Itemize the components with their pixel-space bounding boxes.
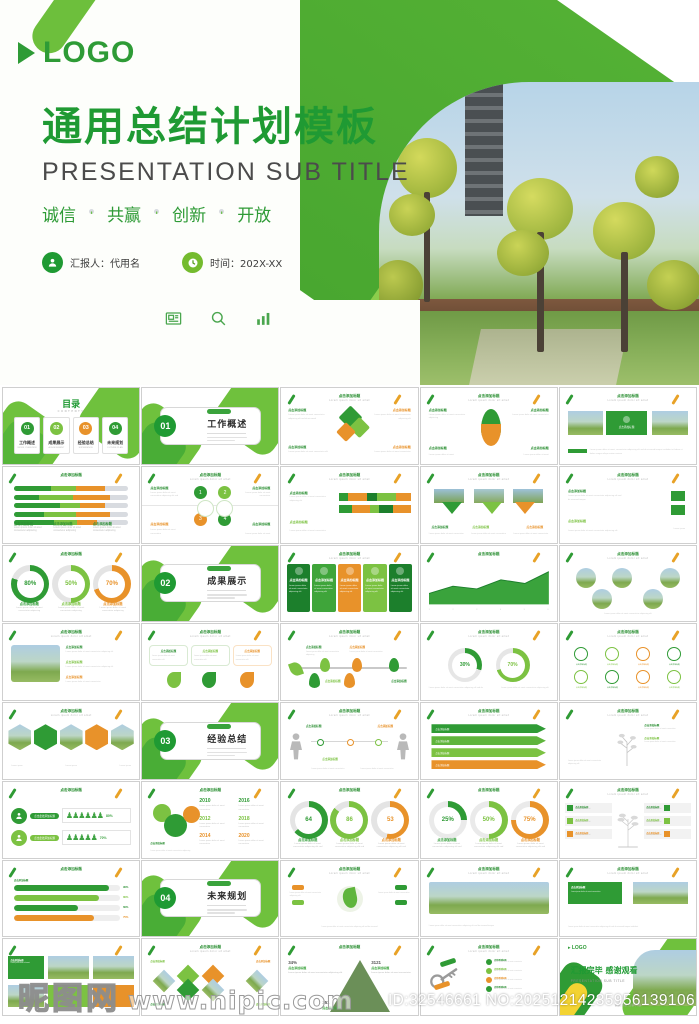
thumb-title: 点击添加标题Lorem ipsum dolor sit amet <box>281 552 417 560</box>
thumb-title-cn: 点击添加标题 <box>60 709 82 713</box>
thumb-title-cn: 点击添加标题 <box>200 473 222 477</box>
thumb-title: 点击添加标题Lorem ipsum dolor sit amet <box>560 867 696 875</box>
thumb-title-en: Lorem ipsum dolor sit amet <box>421 635 557 638</box>
thumb-title-cn: 点击添加标题 <box>60 630 82 634</box>
thumb-title-cn: 点击添加标题 <box>339 552 361 556</box>
thumbnail-people-bar-chart[interactable]: 点击添加标题 点击此处添加标题 ♟♟♟♟♟♟ 80% 点击此处添加标题 ♟♟♟♟… <box>2 781 140 859</box>
slide-thumbnail-grid: 目录 CONTENTS 01 工作概述 WORK OVERVIEW 02 成果展… <box>0 385 699 1016</box>
thumbnail-wide-photo[interactable]: 点击添加标题Lorem ipsum dolor sit amet Lorem i… <box>420 860 558 938</box>
text-heading: 点击添加标题 <box>235 486 270 490</box>
thumb-title: 点击添加标题 <box>3 788 139 793</box>
thumbnail-area-chart[interactable]: 点击添加标题 123456 <box>420 545 558 623</box>
people-value: 70% <box>100 836 107 840</box>
thumbnail-tree-lists[interactable]: 点击添加标题Lorem ipsum dolor sit amet 点击添加标题L… <box>559 781 697 859</box>
thumbnail-arrow-list[interactable]: 点击添加标题Lorem ipsum dolor sit amet 点击添加标题 … <box>420 702 558 780</box>
thumbnail-tree-diagram[interactable]: 点击添加标题Lorem ipsum dolor sit amet 点击添加标题 … <box>559 702 697 780</box>
color-block <box>671 491 685 501</box>
donut-caption: 点击添加标题Lorem ipsum dolor sit amet consect… <box>331 837 369 850</box>
text-block: 点击添加标题 Lorem ipsum dolor sit amet consec… <box>288 408 329 421</box>
date-meta: 时间：202X-XX <box>182 252 282 273</box>
pin-icon <box>352 658 362 672</box>
text-heading: 点击添加标题 <box>370 445 411 449</box>
people-pill: 点击此处添加标题 <box>30 835 59 841</box>
progress-row: 90% <box>14 885 128 891</box>
thumb-title: 点击添加标题Lorem ipsum dolor sit amet <box>142 945 278 953</box>
node-marker <box>347 739 354 746</box>
donut-caption: 点击添加标题Lorem ipsum dolor sit amet consect… <box>512 837 550 850</box>
meta-row: 汇报人：代用名 时间：202X-XX <box>42 252 410 273</box>
thumbnail-progress-bars[interactable]: 点击添加标题 90% 80% 60% 75% 点击添加标题 <box>2 860 140 938</box>
hexagon-row <box>8 724 133 750</box>
thumb-title-cn: 点击添加标题 <box>617 630 639 634</box>
thumbnail-section-02[interactable]: 02 成果展示 <box>141 545 279 623</box>
section-lines <box>207 909 247 915</box>
donut-row: 64 86 53 <box>288 801 411 839</box>
thumb-title: 点击添加标题Lorem ipsum dolor sit amet <box>421 394 557 402</box>
tree-icon <box>614 804 642 848</box>
checklist-item[interactable]: 点击添加标题Lorem ipsum dolor sit amet consect… <box>486 968 550 974</box>
thumb-title-en: Lorem ipsum dolor sit amet <box>560 714 696 717</box>
slogan-item: 创新 <box>172 201 206 226</box>
text-heading: 点击添加标题 <box>370 408 411 412</box>
donut-value: 75% <box>516 807 543 834</box>
reporter-meta: 汇报人：代用名 <box>42 252 140 273</box>
year-item: 2020Lorem ipsum dolor sit amet consectet… <box>238 833 271 847</box>
donut-value: 50% <box>58 571 85 598</box>
people-figures: ♟♟♟♟♟ <box>66 833 97 842</box>
thumb-title-en: Lorem ipsum dolor sit amet <box>281 399 417 402</box>
text-block: 点击添加标题 Lorem ipsum dolor sit amet consec… <box>370 445 411 455</box>
bar-row <box>14 495 128 500</box>
text-block: 点击添加标题 Lorem ipsum dolor sit amet consec… <box>66 645 131 684</box>
thumb-title-en: Lorem ipsum dolor sit amet <box>421 950 557 953</box>
thumb-photo <box>568 411 603 435</box>
pyramid-label: 点击添加标题 <box>288 966 342 970</box>
text-heading: 点击添加标题 <box>429 446 447 450</box>
tag-badge <box>292 885 304 890</box>
thumbnail-donut-chart-b[interactable]: 点击添加标题 64 86 53 点击添加标题Lorem ipsum dolor … <box>280 781 418 859</box>
slogan-separator: | <box>89 209 94 214</box>
thumbnail-numbered-list[interactable]: 点击添加标题Lorem ipsum dolor sit amet 1 2 3 4… <box>141 466 279 544</box>
icon-cell[interactable]: 点击添加标题 <box>630 670 657 689</box>
thumb-title: 点击添加标题Lorem ipsum dolor sit amet <box>142 630 278 638</box>
progress-row: 75% <box>14 915 128 921</box>
photo-trunk <box>621 252 628 352</box>
thumbnail-green-panels[interactable]: 点击添加标题Lorem ipsum dolor sit amet 点击添加标题 … <box>559 860 697 938</box>
clock-icon <box>182 252 203 273</box>
tag-badge <box>292 900 304 905</box>
icon-cell[interactable]: 点击添加标题 <box>568 647 595 666</box>
thumbnail-photo-paragraph[interactable]: 点击添加标题Lorem ipsum dolor sit amet 点击添加标题 … <box>2 623 140 701</box>
thumb-title: 点击添加标题Lorem ipsum dolor sit amet <box>560 394 696 402</box>
thumb-photo <box>612 568 632 588</box>
text-heading: 点击添加标题 <box>531 408 549 412</box>
thumb-title: 点击添加标题Lorem ipsum dolor sit amet <box>560 788 696 796</box>
donut-captions: 点击添加标题Lorem ipsum dolor sit amet consect… <box>8 601 133 614</box>
thumbnail-text-blocks[interactable]: 点击添加标题Lorem ipsum dolor sit amet 点击添加标题 … <box>559 466 697 544</box>
thumb-title-en: Lorem ipsum dolor sit amet <box>281 557 417 560</box>
column-card[interactable]: 点击添加标题Lorem ipsum dolor sit amet consect… <box>338 564 361 613</box>
thumb-title: 点击添加标题Lorem ipsum dolor sit amet <box>281 709 417 717</box>
thumb-title-cn: 点击添加标题 <box>478 945 500 949</box>
checklist: 点击添加标题Lorem ipsum dolor sit amet consect… <box>486 959 550 992</box>
progress-value: 80% <box>123 896 128 899</box>
thumb-title: 点击添加标题Lorem ipsum dolor sit amet <box>421 867 557 875</box>
people-row: 点击此处添加标题 ♟♟♟♟♟ 70% <box>11 830 131 846</box>
text-heading: 点击添加标题 <box>150 959 164 963</box>
people-row: 点击此处添加标题 ♟♟♟♟♟♟ 80% <box>11 808 131 824</box>
funnel-icon <box>515 502 535 514</box>
accent-bar <box>568 449 587 453</box>
thumbnail-thank-you[interactable]: ▸ LOGO 汇报完毕 感谢观看 PRESENTATION SUB TITLE … <box>559 938 697 1016</box>
list-item[interactable]: 点击添加标题Lorem ipsum dolor sit <box>565 816 611 826</box>
photo-tree <box>635 156 679 198</box>
thumb-photo <box>93 956 134 979</box>
icon-cell[interactable]: 点击添加标题 <box>599 670 626 689</box>
green-panel: 点击添加标题 Lorem ipsum dolor sit amet <box>8 956 43 979</box>
list-item[interactable]: 点击添加标题Lorem ipsum dolor sit <box>644 816 690 826</box>
thumb-title: 点击添加标题 <box>3 473 139 478</box>
number-badge: 2 <box>218 486 231 499</box>
list-item[interactable]: 点击添加标题Lorem ipsum dolor sit <box>644 803 690 813</box>
pyramid-value: 3121 <box>371 960 381 965</box>
legend-item: 点击添加标题Lorem ipsum dolor sit amet consect… <box>14 521 49 534</box>
green-panel: 点击添加标题 Lorem ipsum dolor sit amet consec… <box>568 882 622 905</box>
pyramid-stat-left: 34% 点击添加标题 Lorem ipsum dolor sit amet co… <box>288 960 342 975</box>
list-item[interactable]: 点击添加标题Lorem ipsum dolor sit <box>565 829 611 839</box>
check-icon <box>396 567 404 575</box>
text-heading: 点击添加标题 <box>322 757 338 761</box>
text-block: 点击添加标题 Lorem ipsum dolor sit amet consec… <box>644 723 688 744</box>
column-card[interactable]: 点击添加标题Lorem ipsum dolor sit amet consect… <box>312 564 335 613</box>
thumb-title-en: Lorem ipsum dolor sit amet <box>421 714 557 717</box>
person-silhouette-icon <box>288 732 304 760</box>
year-item: 2010Lorem ipsum dolor sit amet consectet… <box>199 798 232 812</box>
thumbnail-stacked-bar-chart[interactable]: 点击添加标题 点击添加标题Lorem ipsum dolor sit amet … <box>2 466 140 544</box>
deco-slash-orange-icon <box>114 945 122 956</box>
text-heading: 点击添加标题 <box>14 878 28 882</box>
progress-rows: 90% 80% 60% 75% <box>14 885 128 921</box>
section-number: 02 <box>154 572 176 594</box>
hexagon-orange <box>85 724 108 750</box>
donut-caption: 点击添加标题Lorem ipsum dolor sit amet consect… <box>428 837 466 850</box>
column-card[interactable]: 点击添加标题Lorem ipsum dolor sit amet consect… <box>287 564 310 613</box>
section-rule <box>207 590 246 591</box>
logo[interactable]: LOGO <box>18 36 135 70</box>
text-heading: 点击添加标题 <box>349 645 365 649</box>
thumbnail-people-timeline[interactable]: 点击添加标题Lorem ipsum dolor sit amet 点击添加标题 … <box>280 702 418 780</box>
people-figures: ♟♟♟♟♟♟ <box>66 811 103 820</box>
icon-cell[interactable]: 点击添加标题 <box>599 647 626 666</box>
text-heading: 点击添加标题 <box>66 675 131 679</box>
thumbnail-five-columns[interactable]: 点击添加标题Lorem ipsum dolor sit amet 点击添加标题L… <box>280 545 418 623</box>
checklist-item[interactable]: 点击添加标题Lorem ipsum dolor sit amet consect… <box>486 986 550 992</box>
thumb-title-cn: 点击添加标题 <box>478 630 500 634</box>
donut-value: 50% <box>475 807 502 834</box>
node-marker <box>317 739 324 746</box>
year-item: 2016Lorem ipsum dolor sit amet consectet… <box>238 798 271 812</box>
section-lines <box>207 752 247 758</box>
donut-chart: 30% <box>448 648 482 682</box>
thumbnail-section-03[interactable]: 03 经验总结 <box>141 702 279 780</box>
pin-icon <box>481 424 501 446</box>
icon-cell[interactable]: 点击添加标题 <box>568 670 595 689</box>
text-heading: 点击添加标题 <box>472 525 489 529</box>
thumbnail-donut-chart-c[interactable]: 点击添加标题 25% 50% 75% 点击添加标题Lorem ipsum dol… <box>420 781 558 859</box>
contents-card[interactable]: 02 成果展示 ACHIEVEMENT <box>43 417 69 454</box>
arrow-row[interactable]: 点击添加标题 <box>431 736 545 745</box>
finale-slogan: 诚信 共赢 创新 开放 <box>560 1003 696 1007</box>
photo-pagoda <box>465 84 503 216</box>
text-heading: 点击添加标题 <box>431 525 448 529</box>
contents-card[interactable]: 01 工作概述 WORK OVERVIEW <box>14 417 40 454</box>
thumbnail-hexagon-layout[interactable]: 点击添加标题Lorem ipsum dolor sit amet Lorem i… <box>2 702 140 780</box>
thumbnail-icon-grid[interactable]: 点击添加标题Lorem ipsum dolor sit amet 点击添加标题 … <box>559 623 697 701</box>
donut-chart: 25% <box>429 801 467 839</box>
panel-heading: 点击添加标题 <box>619 425 635 429</box>
person-icon <box>42 252 63 273</box>
year-item: 2012Lorem ipsum dolor sit amet consectet… <box>199 816 232 830</box>
thumb-title-en: Lorem ipsum dolor sit amet <box>560 635 696 638</box>
section-number: 01 <box>154 415 176 437</box>
thumb-title-cn: 点击添加标题 <box>339 630 361 634</box>
thumb-photo <box>643 589 663 609</box>
section-title: 未来规划 <box>207 889 259 902</box>
thumb-title-en: Lorem ipsum dolor sit amet <box>560 872 696 875</box>
thumbnail-donut-chart-a[interactable]: 点击添加标题 80% 50% 70% 点击添加标题Lorem ipsum dol… <box>2 545 140 623</box>
contents-card[interactable]: 04 未来规划 FUTURE PLAN <box>102 417 128 454</box>
contents-card-label: 成果展示 <box>45 440 67 446</box>
progress-value: 90% <box>123 886 128 889</box>
list-item[interactable]: 点击添加标题Lorem ipsum dolor sit <box>644 829 690 839</box>
pyramid-value: 34% <box>288 960 297 965</box>
leaf-icon <box>167 672 181 688</box>
text-block: 点击添加标题 Lorem ipsum dolor sit amet consec… <box>288 445 329 455</box>
slogan-item: 诚信 <box>42 201 76 226</box>
photo-tree <box>647 260 699 310</box>
donut-chart: 75% <box>511 801 549 839</box>
contents-card-number: 03 <box>79 422 92 435</box>
text-heading: 点击添加标题 <box>288 445 329 449</box>
tree-icon <box>612 726 642 766</box>
leaf-icon <box>288 660 304 677</box>
pin-icon <box>320 658 330 672</box>
list-left: 点击添加标题Lorem ipsum dolor sit 点击添加标题Lorem … <box>565 803 611 839</box>
arrow-row[interactable]: 点击添加标题 <box>431 748 545 757</box>
thumb-title-en: Lorem ipsum dolor sit amet <box>281 635 417 638</box>
checklist-item[interactable]: 点击添加标题Lorem ipsum dolor sit amet consect… <box>486 959 550 965</box>
donut-value: 70% <box>98 571 125 598</box>
progress-row: 60% <box>14 905 128 911</box>
contents-title: 目录 CONTENTS <box>3 397 139 413</box>
gear-icon <box>183 806 200 823</box>
thumb-title: 点击添加标题Lorem ipsum dolor sit amet <box>281 473 417 481</box>
thumbnail-segmented-bars[interactable]: 点击添加标题Lorem ipsum dolor sit amet 点击添加标题 … <box>280 466 418 544</box>
page-title: 通用总结计划模板 <box>42 105 410 149</box>
hero-content: 通用总结计划模板 PRESENTATION SUB TITLE 诚信 | 共赢 … <box>42 105 410 333</box>
text-heading: 点击添加标题 <box>150 1002 164 1006</box>
thumbnail-section-01[interactable]: 01 工作概述 <box>141 387 279 465</box>
funnel-icon <box>442 502 462 514</box>
contents-card-number: 01 <box>21 422 34 435</box>
hexagon-green <box>34 724 57 750</box>
pyramid-stat-bottom: 351 点击添加标题 <box>322 1000 340 1010</box>
person-silhouette-icon <box>395 732 411 760</box>
contents-card-number: 02 <box>50 422 63 435</box>
photo-tree <box>497 230 549 276</box>
bar-chart-icon[interactable] <box>254 309 273 333</box>
news-icon[interactable] <box>164 309 183 333</box>
thumb-title-en: Lorem ipsum dolor sit amet <box>281 714 417 717</box>
donut-chart: 70% <box>496 648 530 682</box>
slogan-separator: | <box>154 209 159 214</box>
legend-item: 点击添加标题Lorem ipsum dolor sit amet consect… <box>53 521 88 534</box>
section-number: 03 <box>154 730 176 752</box>
rounded-card[interactable]: 点击添加标题Lorem ipsum dolor sit amet consect… <box>233 645 272 665</box>
donut-caption: 点击添加标题Lorem ipsum dolor sit amet consect… <box>289 837 327 850</box>
check-icon <box>320 567 328 575</box>
people-bar: ♟♟♟♟♟♟ 80% <box>62 808 131 823</box>
thumb-title: 点击添加标题Lorem ipsum dolor sit amet <box>421 709 557 717</box>
feature-icon-row <box>164 309 410 333</box>
donut-captions: 点击添加标题Lorem ipsum dolor sit amet consect… <box>426 837 551 850</box>
thumbnail-pin-timeline[interactable]: 点击添加标题Lorem ipsum dolor sit amet 点击添加标题 … <box>280 623 418 701</box>
thumbnail-circle-photos[interactable]: 点击添加标题Lorem ipsum dolor sit amet Lorem i… <box>559 545 697 623</box>
text-heading: 点击添加标题 <box>526 525 543 529</box>
thumb-title-cn: 点击添加标题 <box>339 867 361 871</box>
thumbnail-location-pin[interactable]: 点击添加标题Lorem ipsum dolor sit amet 点击添加标题 … <box>420 387 558 465</box>
section-rule <box>207 905 246 906</box>
thumb-title: 点击添加标题Lorem ipsum dolor sit amet <box>560 709 696 717</box>
thumb-title: 点击添加标题 <box>3 867 139 872</box>
thumb-title-en: Lorem ipsum dolor sit amet <box>560 793 696 796</box>
donut-chart: 80% <box>11 565 49 603</box>
area-chart-plot <box>429 568 549 604</box>
thumb-title-en: Lorem ipsum dolor sit amet <box>142 478 278 481</box>
thumb-title-en: Lorem ipsum dolor sit amet <box>560 399 696 402</box>
list-item[interactable]: 点击添加标题Lorem ipsum dolor sit <box>565 803 611 813</box>
thumbnail-pyramid-stats[interactable]: 点击添加标题 34% 点击添加标题 Lorem ipsum dolor sit … <box>280 938 418 1016</box>
bar-row <box>14 503 128 508</box>
contents-title-en: CONTENTS <box>3 410 139 413</box>
arrow-row[interactable]: 点击添加标题 <box>431 724 545 733</box>
text-heading: 点击添加标题 <box>306 724 322 728</box>
thumb-title: 点击添加标题Lorem ipsum dolor sit amet <box>560 630 696 638</box>
column-card[interactable]: 点击添加标题Lorem ipsum dolor sit amet consect… <box>363 564 386 613</box>
donut-caption: 点击添加标题Lorem ipsum dolor sit amet consect… <box>11 601 49 614</box>
section-lines <box>207 437 247 443</box>
icon-cell[interactable]: 点击添加标题 <box>661 647 688 666</box>
column-card[interactable]: 点击添加标题Lorem ipsum dolor sit amet consect… <box>389 564 412 613</box>
thumbnail-photo-collage[interactable]: 点击添加标题 Lorem ipsum dolor sit amet <box>2 938 140 1016</box>
section-lines <box>207 594 247 600</box>
thumbnail-gears-timeline[interactable]: 点击添加标题 2010Lorem ipsum dolor sit amet co… <box>141 781 279 859</box>
thumbnail-key-checklist[interactable]: 点击添加标题Lorem ipsum dolor sit amet 点击添加标题L… <box>420 938 558 1016</box>
thumb-title-cn: 点击添加标题 <box>339 394 361 398</box>
thumbnail-donut-pair[interactable]: 点击添加标题Lorem ipsum dolor sit amet 30% 70%… <box>420 623 558 701</box>
year-item: 2014Lorem ipsum dolor sit amet consectet… <box>199 833 232 847</box>
section-rule <box>207 433 246 434</box>
text-heading: 点击添加标题 <box>66 660 131 664</box>
thumbnail-contents[interactable]: 目录 CONTENTS 01 工作概述 WORK OVERVIEW 02 成果展… <box>2 387 140 465</box>
rounded-card[interactable]: 点击添加标题Lorem ipsum dolor sit amet consect… <box>191 645 230 665</box>
hexagon-photo <box>111 724 134 750</box>
thumb-title-cn: 点击添加标题 <box>200 945 222 949</box>
donut-caption: 点击添加标题Lorem ipsum dolor sit amet consect… <box>372 837 410 850</box>
thumb-title-cn: 点击添加标题 <box>617 788 639 792</box>
section-pill <box>207 409 231 414</box>
text-heading: 点击添加标题 <box>66 645 131 649</box>
key-icon <box>429 965 459 995</box>
thumb-title: 点击添加标题Lorem ipsum dolor sit amet <box>421 473 557 481</box>
thumb-title: 点击添加标题 <box>281 788 417 793</box>
rounded-card[interactable]: 点击添加标题Lorem ipsum dolor sit amet consect… <box>149 645 188 665</box>
diamond-photo <box>152 969 175 992</box>
donut-row: 25% 50% 75% <box>427 801 550 839</box>
search-icon[interactable] <box>209 309 228 333</box>
thumbnail-leaf-center[interactable]: 点击添加标题Lorem ipsum dolor sit amet Lorem i… <box>280 860 418 938</box>
bar-row <box>14 486 128 491</box>
pin-icon <box>389 658 399 672</box>
people-rows: 点击此处添加标题 ♟♟♟♟♟♟ 80% 点击此处添加标题 ♟♟♟♟♟ 70% <box>11 808 131 846</box>
donut-value: 64 <box>295 807 322 834</box>
thumb-title-cn: 点击添加标题 <box>339 473 361 477</box>
thumb-photo <box>11 645 60 681</box>
hexagon-photo <box>8 724 31 750</box>
thumbnail-photo-text[interactable]: 点击添加标题Lorem ipsum dolor sit amet 点击添加标题 … <box>559 387 697 465</box>
color-block <box>671 505 685 515</box>
icon-cell[interactable]: 点击添加标题 <box>630 647 657 666</box>
person-icon <box>11 808 27 824</box>
contents-card-sub: WORK OVERVIEW <box>16 447 38 449</box>
axis-ticks: 123456 <box>429 609 549 611</box>
drop-icon <box>344 673 355 688</box>
thumb-title-en: Lorem ipsum dolor sit amet <box>142 950 278 953</box>
section-pill <box>207 566 231 571</box>
text-heading: 点击添加标题 <box>290 491 328 495</box>
drop-icon <box>309 673 320 688</box>
contents-card-sub: FUTURE PLAN <box>104 447 126 449</box>
slogan-row: 诚信 | 共赢 | 创新 | 开放 <box>42 201 410 226</box>
contents-card[interactable]: 03 经验总结 EXPERIENCE <box>73 417 99 454</box>
segment-row <box>339 493 411 501</box>
thumbnail-section-04[interactable]: 04 未来规划 <box>141 860 279 938</box>
pyramid-stat-right: 3121 点击添加标题 Lorem ipsum dolor sit amet c… <box>371 960 411 975</box>
donut-value: 25% <box>434 807 461 834</box>
pyramid-label: 点击添加标题 <box>322 1006 340 1010</box>
column-row: 点击添加标题Lorem ipsum dolor sit amet consect… <box>287 564 412 613</box>
thumb-title-en: Lorem ipsum dolor sit amet <box>3 714 139 717</box>
number-badge: 1 <box>194 486 207 499</box>
hero-slide: LOGO 通用总结计划模板 PRESENTATION SUB TITLE 诚信 … <box>0 0 699 385</box>
thumbnail-funnel-photos[interactable]: 点击添加标题Lorem ipsum dolor sit amet 点击添加标题 … <box>420 466 558 544</box>
text-heading: 点击添加标题 <box>150 522 185 526</box>
thumb-title: 点击添加标题Lorem ipsum dolor sit amet <box>281 867 417 875</box>
icon-cell[interactable]: 点击添加标题 <box>661 670 688 689</box>
checklist-item[interactable]: 点击添加标题Lorem ipsum dolor sit amet consect… <box>486 977 550 983</box>
arrow-row[interactable]: 点击添加标题 <box>431 760 545 769</box>
thumbnail-diamond-layout[interactable]: 点击添加标题Lorem ipsum dolor sit amet 点击添加标题 … <box>280 387 418 465</box>
thumb-photo <box>8 985 43 1008</box>
thumbnail-rounded-cards[interactable]: 点击添加标题Lorem ipsum dolor sit amet 点击添加标题L… <box>141 623 279 701</box>
center-circle <box>216 500 233 517</box>
section-title: 成果展示 <box>207 574 259 587</box>
thumbnail-diamond-grid[interactable]: 点击添加标题Lorem ipsum dolor sit amet 点击添加标题 … <box>141 938 279 1016</box>
donut-caption: 点击添加标题Lorem ipsum dolor sit amet consect… <box>52 601 90 614</box>
thumb-photo <box>576 568 596 588</box>
thumb-title: 点击添加标题Lorem ipsum dolor sit amet <box>3 709 139 717</box>
text-heading: 点击添加标题 <box>325 679 341 683</box>
